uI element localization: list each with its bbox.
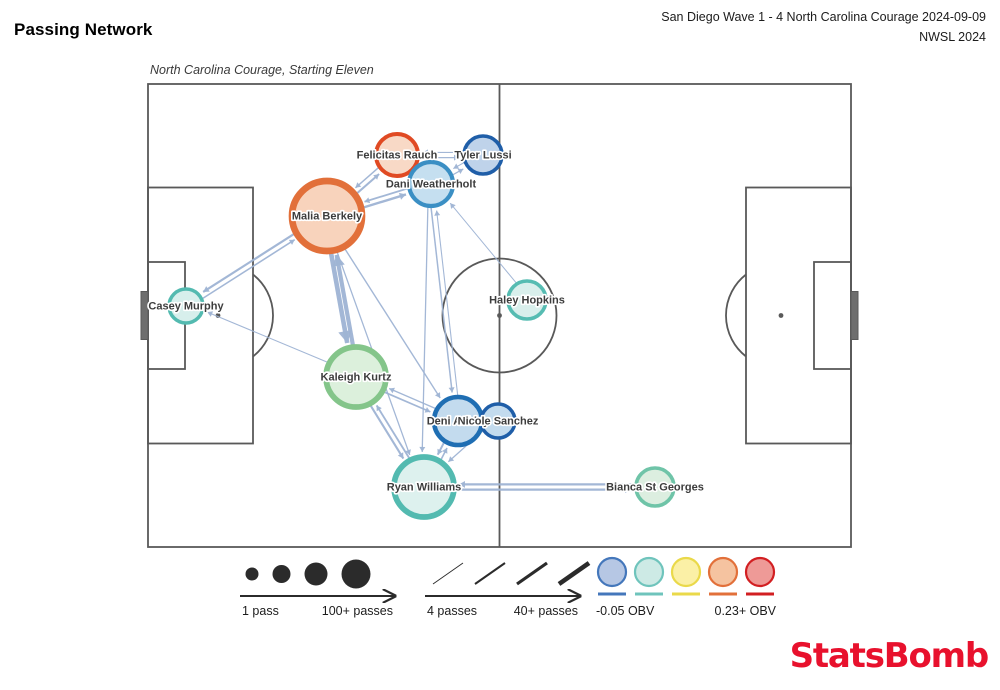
legend-color-swatch [672, 558, 700, 586]
legend-color-max-label: 0.23+ OBV [715, 604, 777, 618]
pass-edge [207, 311, 328, 362]
player-nodes: Casey MurphyMalia BerkelyFelicitas Rauch… [148, 134, 704, 517]
legend-color-swatch [746, 558, 774, 586]
legend-color-min-label: -0.05 OBV [596, 604, 655, 618]
goal-right [851, 292, 858, 340]
player-node-label: Dani Weatherholt [386, 178, 477, 190]
penalty-spot-right [779, 313, 784, 318]
player-node-label: Tyler Lussi [454, 149, 511, 161]
pass-edge [450, 203, 516, 283]
legend-width-max-label: 40+ passes [514, 604, 578, 618]
legend-size-dot [305, 563, 328, 586]
player-node-label: Kaleigh Kurtz [321, 371, 392, 383]
legend-size-max-label: 100+ passes [322, 604, 393, 618]
pass-edge [441, 448, 448, 461]
passing-network-chart: Casey MurphyMalia BerkelyFelicitas Rauch… [0, 0, 1000, 690]
pass-edge-line [370, 405, 403, 459]
player-node-label: Nicole Sanchez [458, 415, 539, 427]
legend-width-min-label: 4 passes [427, 604, 477, 618]
pass-edge-line [431, 207, 452, 392]
player-node-label: Bianca St Georges [606, 481, 704, 493]
pass-edge-line [207, 312, 328, 363]
legend-color-swatch [635, 558, 663, 586]
pass-edge-line [389, 388, 436, 408]
legend-size-dot [273, 565, 291, 583]
legend-color-swatch [598, 558, 626, 586]
pass-edge-arrowhead [434, 211, 440, 216]
penalty-arc-right [726, 275, 746, 357]
goal-left [141, 292, 148, 340]
legend-size-min-label: 1 pass [242, 604, 279, 618]
penalty-arc-left [253, 275, 273, 357]
legend-width-stroke [433, 563, 463, 584]
pass-edge-arrowhead [449, 387, 455, 392]
pass-edge-arrowhead [419, 447, 425, 452]
pass-edge-line [203, 233, 295, 292]
pass-edge [370, 405, 403, 459]
goal-area-right [814, 262, 851, 369]
pass-edge-line [203, 240, 295, 299]
legend-width-stroke [475, 563, 505, 584]
passing-network-page: Passing Network San Diego Wave 1 - 4 Nor… [0, 0, 1000, 690]
pass-edge [389, 388, 436, 409]
legend-size-dot [246, 568, 259, 581]
legend-width-stroke [559, 563, 589, 584]
pass-edge [452, 169, 463, 175]
player-node-label: Malia Berkely [292, 210, 363, 222]
penalty-area-right [746, 188, 851, 444]
pass-edge [455, 486, 631, 493]
pass-edge [377, 405, 410, 459]
player-node-label: Ryan Williams [387, 481, 461, 493]
player-node-label: Casey Murphy [148, 300, 224, 312]
pass-edge [431, 207, 455, 392]
player-node-label: Felicitas Rauch [357, 149, 438, 161]
pass-edge-line [437, 211, 458, 396]
pass-edge [203, 233, 295, 292]
center-spot [497, 313, 502, 318]
legend-color-swatch [709, 558, 737, 586]
pass-edge [453, 162, 464, 168]
legend-size-dot [342, 560, 371, 589]
pass-edge-line [377, 405, 410, 459]
statsbomb-logo: StatsBomb [790, 636, 988, 676]
chart-legend: 1 pass100+ passes4 passes40+ passes-0.05… [240, 558, 777, 618]
pass-edge [203, 240, 295, 299]
legend-width-stroke [517, 563, 547, 584]
pass-edge [437, 442, 444, 455]
pass-edge [434, 211, 458, 396]
player-node-label: Haley Hopkins [489, 294, 565, 306]
pass-edge-line [450, 203, 516, 283]
